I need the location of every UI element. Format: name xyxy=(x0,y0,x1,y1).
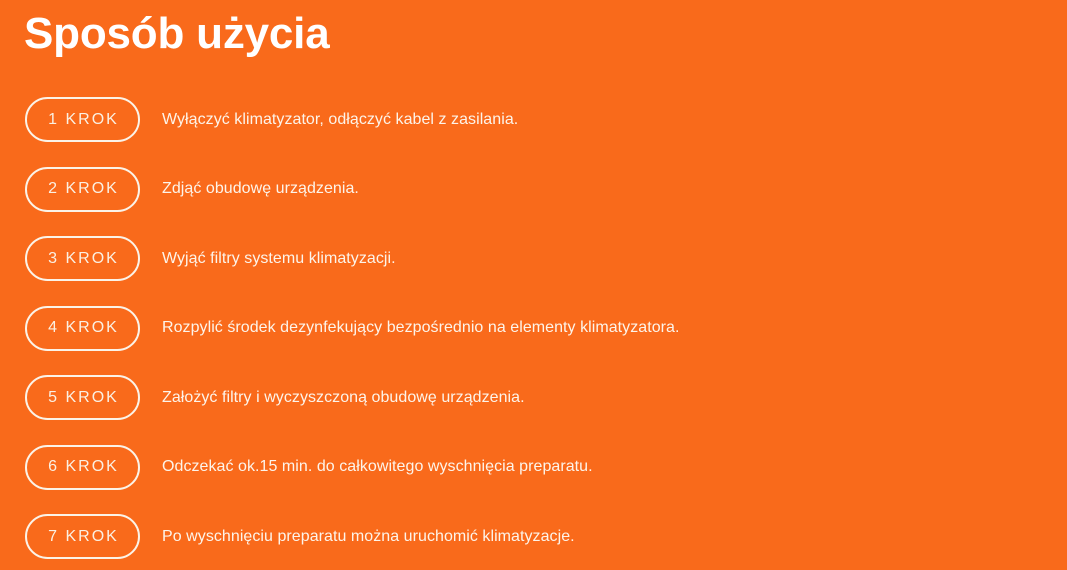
step-row: 2 KROK Zdjąć obudowę urządzenia. xyxy=(0,167,1067,212)
step-badge-5: 5 KROK xyxy=(25,375,140,420)
step-description: Rozpylić środek dezynfekujący bezpośredn… xyxy=(162,317,1067,339)
step-row: 7 KROK Po wyschnięciu preparatu można ur… xyxy=(0,514,1067,559)
step-description: Po wyschnięciu preparatu można uruchomić… xyxy=(162,526,1067,548)
step-row: 1 KROK Wyłączyć klimatyzator, odłączyć k… xyxy=(0,97,1067,142)
step-row: 3 KROK Wyjąć filtry systemu klimatyzacji… xyxy=(0,236,1067,281)
step-badge-label: 7 KROK xyxy=(46,529,119,545)
step-badge-label: 5 KROK xyxy=(46,390,119,406)
step-row: 6 KROK Odczekać ok.15 min. do całkowiteg… xyxy=(0,445,1067,490)
step-badge-3: 3 KROK xyxy=(25,236,140,281)
step-badge-7: 7 KROK xyxy=(25,514,140,559)
steps-list: 1 KROK Wyłączyć klimatyzator, odłączyć k… xyxy=(0,97,1067,570)
step-badge-6: 6 KROK xyxy=(25,445,140,490)
step-badge-label: 2 KROK xyxy=(46,181,119,197)
step-row: 5 KROK Założyć filtry i wyczyszczoną obu… xyxy=(0,375,1067,420)
step-description: Odczekać ok.15 min. do całkowitego wysch… xyxy=(162,456,1067,478)
step-badge-1: 1 KROK xyxy=(25,97,140,142)
step-description: Zdjąć obudowę urządzenia. xyxy=(162,178,1067,200)
step-badge-label: 4 KROK xyxy=(46,320,119,336)
step-badge-label: 3 KROK xyxy=(46,251,119,267)
step-badge-label: 1 KROK xyxy=(46,112,119,128)
step-badge-4: 4 KROK xyxy=(25,306,140,351)
step-badge-2: 2 KROK xyxy=(25,167,140,212)
instructions-panel: Sposób użycia 1 KROK Wyłączyć klimatyzat… xyxy=(0,0,1067,570)
page-title: Sposób użycia xyxy=(24,6,329,62)
step-description: Wyłączyć klimatyzator, odłączyć kabel z … xyxy=(162,109,1067,131)
step-description: Wyjąć filtry systemu klimatyzacji. xyxy=(162,248,1067,270)
step-row: 4 KROK Rozpylić środek dezynfekujący bez… xyxy=(0,306,1067,351)
step-description: Założyć filtry i wyczyszczoną obudowę ur… xyxy=(162,387,1067,409)
step-badge-label: 6 KROK xyxy=(46,459,119,475)
